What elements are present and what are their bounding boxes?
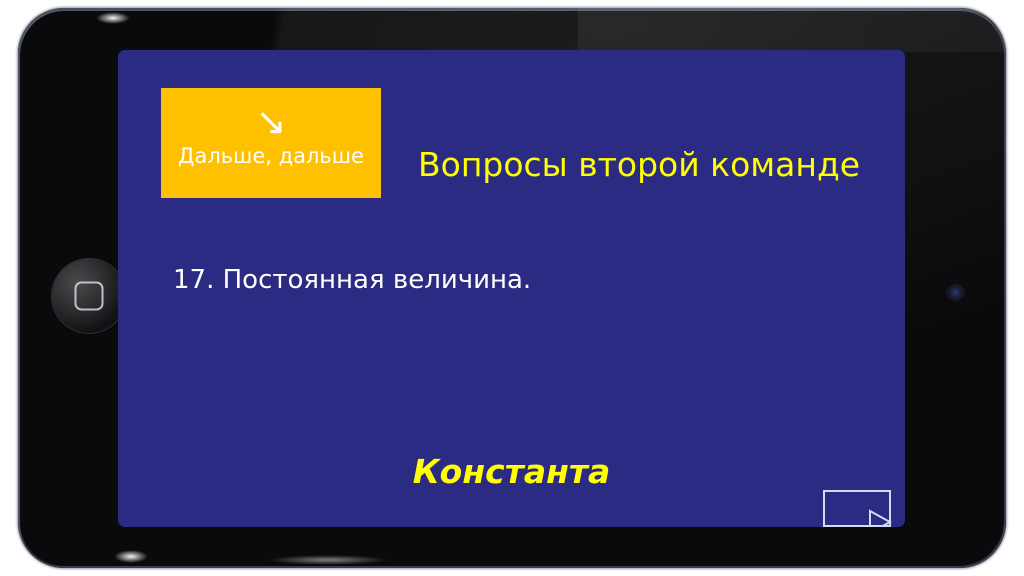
home-button[interactable] — [52, 259, 126, 333]
rim-glint-top-left — [96, 12, 130, 24]
play-triangle-icon — [847, 497, 868, 521]
bezel-glare-top — [18, 8, 1006, 52]
presentation-slide: ↘ Дальше, дальше Вопросы второй команде … — [118, 50, 905, 527]
rim-glint-bottom-left — [114, 550, 148, 563]
rounded-square-icon — [75, 282, 104, 311]
tablet-device-frame: ↘ Дальше, дальше Вопросы второй команде … — [18, 8, 1006, 568]
next-slide-button[interactable] — [823, 490, 891, 527]
arrow-down-right-icon: ↘ — [255, 102, 286, 142]
rim-glint-bottom-middle — [268, 555, 388, 565]
answer-text: Константа — [118, 452, 905, 492]
slide-title: Вопросы второй команде — [418, 146, 888, 184]
next-action-box[interactable]: ↘ Дальше, дальше — [161, 88, 381, 198]
camera-lens-icon — [948, 286, 963, 299]
next-action-label: Дальше, дальше — [178, 144, 364, 168]
question-text: 17. Постоянная величина. — [173, 264, 531, 296]
